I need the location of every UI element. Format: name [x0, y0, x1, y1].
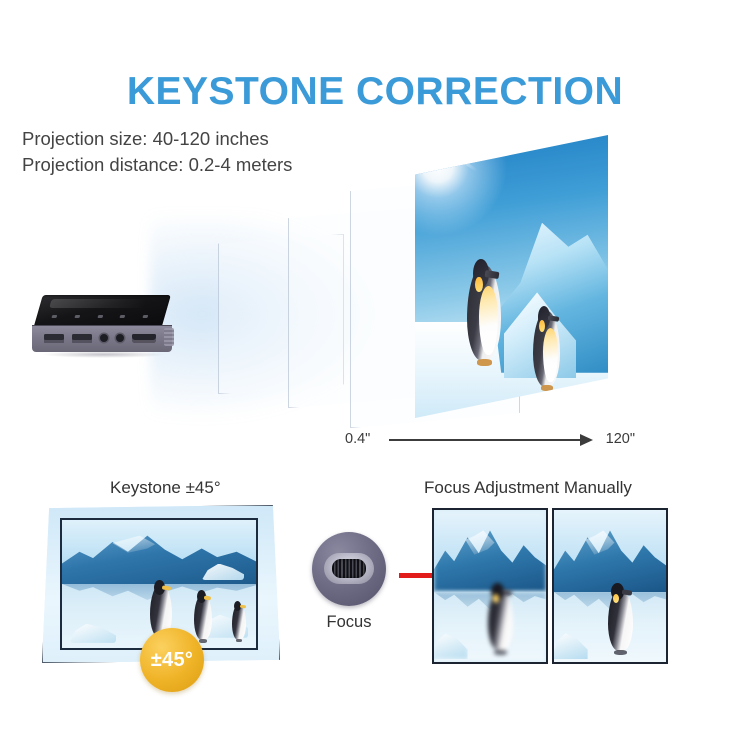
spec-projection-distance: Projection distance: 0.2-4 meters — [22, 152, 292, 178]
projector-control-keys — [51, 312, 149, 320]
projection-size-scale: 0.4" 120" — [345, 428, 635, 450]
screen-sun-flare — [415, 135, 517, 235]
page-title: KEYSTONE CORRECTION — [0, 70, 750, 114]
mini-projector-device — [32, 295, 172, 357]
focus-panel-out-of-focus — [432, 508, 548, 664]
screen-penguin-front — [467, 265, 501, 361]
projector-vent — [164, 328, 174, 346]
audio-jack-icon — [100, 334, 108, 342]
infographic-canvas: KEYSTONE CORRECTION Projection size: 40-… — [0, 0, 750, 750]
screen-penguin-back — [533, 311, 560, 387]
focus-dial-slot — [324, 553, 374, 584]
usb-port-icon — [44, 334, 64, 343]
focus-caption: Focus Adjustment Manually — [424, 478, 632, 498]
device-shadow — [42, 351, 166, 358]
dc-jack-icon — [116, 334, 124, 342]
scale-max-label: 120" — [606, 428, 635, 450]
scale-line — [389, 439, 587, 441]
focus-dial[interactable] — [312, 532, 386, 606]
scale-arrow-icon — [580, 434, 593, 446]
focus-panel-in-focus — [552, 508, 668, 664]
projected-screen-image — [415, 135, 608, 418]
usb-port-icon — [72, 334, 92, 343]
hdmi-port-icon — [132, 334, 156, 343]
focus-comparison — [432, 508, 668, 660]
spec-list: Projection size: 40-120 inches Projectio… — [22, 126, 292, 178]
focus-slider-grip[interactable] — [332, 559, 366, 578]
keystone-angle-badge: ±45° — [140, 628, 204, 692]
focus-penguin — [608, 589, 633, 651]
spec-projection-size: Projection size: 40-120 inches — [22, 126, 292, 152]
scale-min-label: 0.4" — [345, 428, 370, 450]
focus-dial-label: Focus — [312, 613, 386, 632]
keystone-caption: Keystone ±45° — [110, 478, 221, 498]
keystone-penguin — [232, 604, 246, 640]
keystone-penguin — [194, 594, 212, 640]
focus-penguin — [488, 589, 513, 651]
projector-port-row — [44, 331, 160, 345]
